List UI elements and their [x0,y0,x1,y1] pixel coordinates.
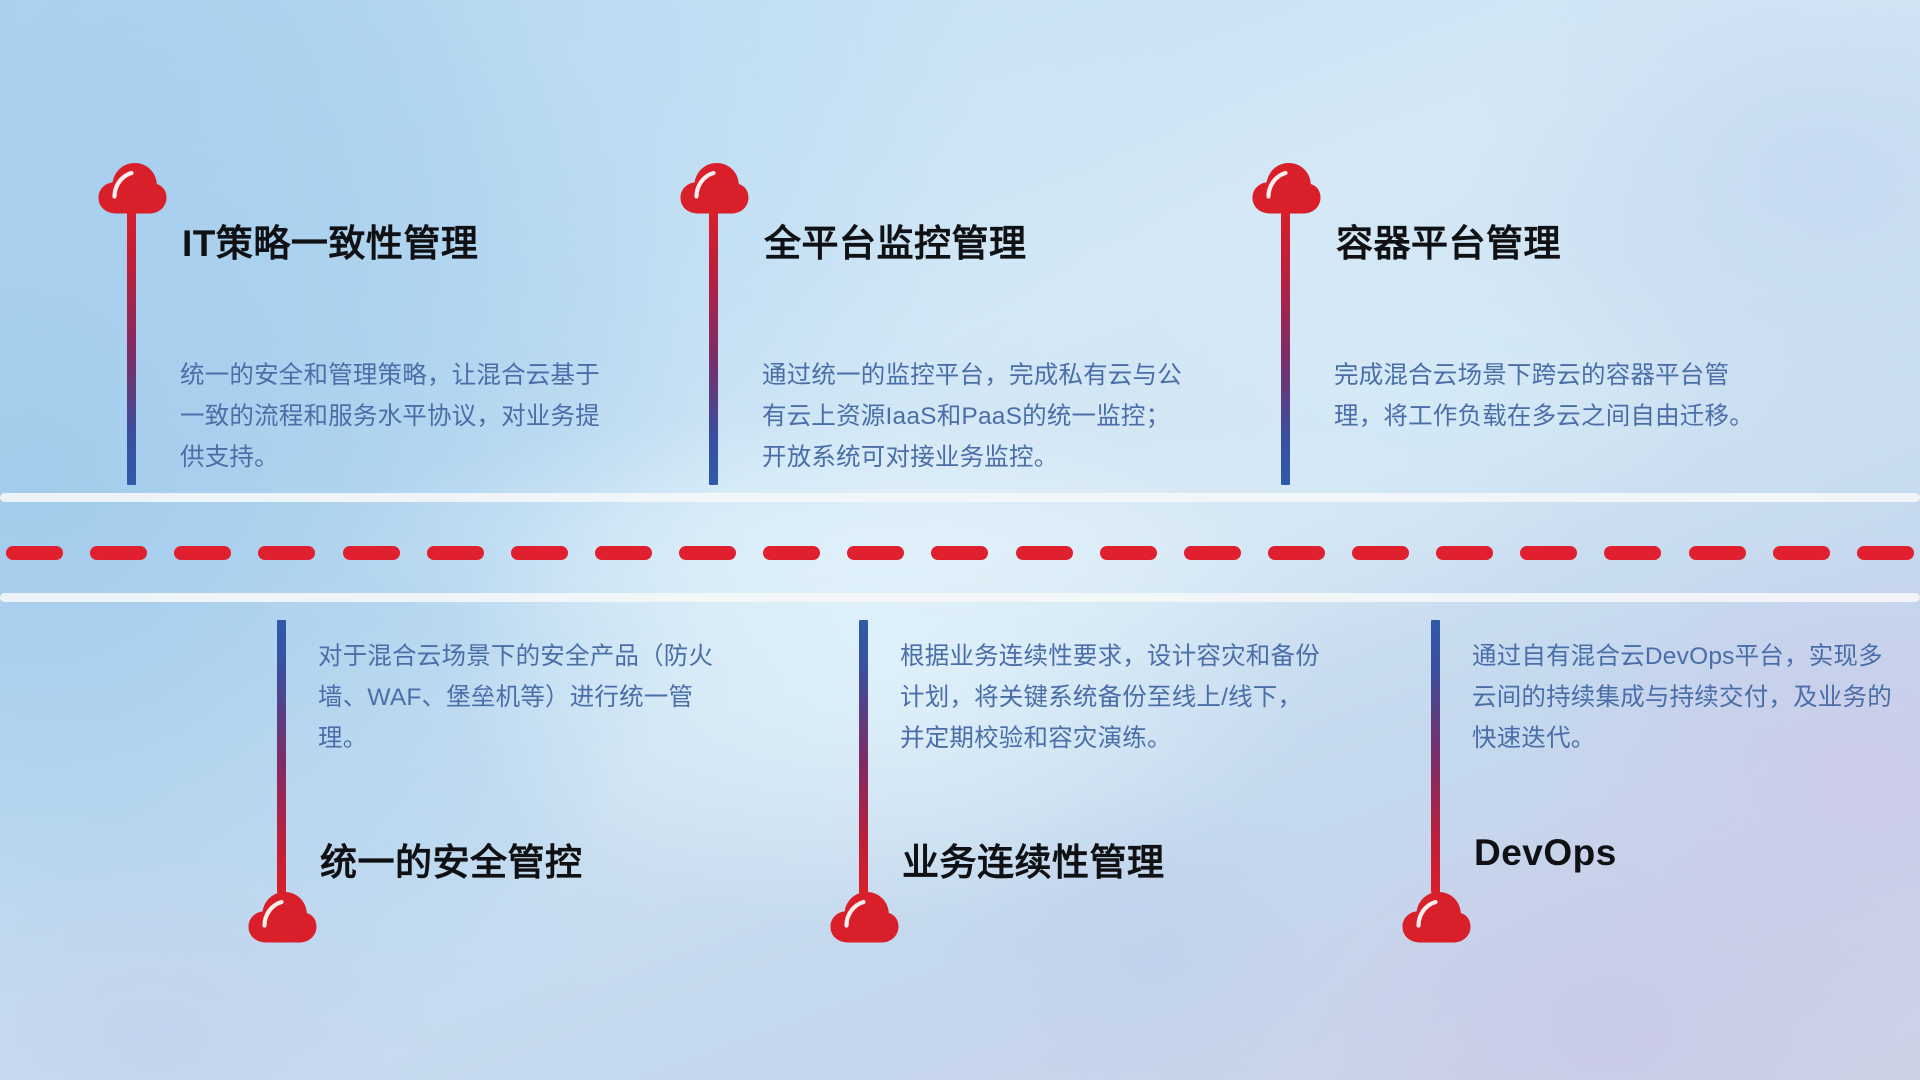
connector-stem [277,620,286,893]
pin-it-policy-consistency [96,160,174,216]
heading-container-platform: 容器平台管理 [1336,213,1561,267]
pin-full-platform-monitoring [678,160,756,216]
dash-segment [1604,546,1661,560]
dash-segment [258,546,315,560]
heading-it-policy-consistency: IT策略一致性管理 [182,213,478,267]
cloud-icon [96,160,168,216]
dash-segment [343,546,400,560]
dash-segment [6,546,63,560]
heading-devops: DevOps [1474,832,1617,874]
dash-segment [1436,546,1493,560]
dash-segment [1857,546,1914,560]
cloud-icon [246,889,318,945]
cloud-icon [678,160,750,216]
connector-stem [127,212,136,485]
dash-segment [679,546,736,560]
body-business-continuity: 根据业务连续性要求，设计容灾和备份计划，将关键系统备份至线上/线下，并定期校验和… [900,636,1320,759]
dash-segment [1100,546,1157,560]
heading-unified-security: 统一的安全管控 [320,832,583,886]
dash-segment [931,546,988,560]
dash-segment [1352,546,1409,560]
divider-bar-top [0,493,1920,502]
connector-stem [1281,212,1290,485]
dash-segment [763,546,820,560]
body-it-policy-consistency: 统一的安全和管理策略，让混合云基于一致的流程和服务水平协议，对业务提供支持。 [180,355,600,478]
heading-full-platform-monitoring: 全平台监控管理 [764,213,1027,267]
divider-bar-bottom [0,593,1920,602]
dash-segment [511,546,568,560]
body-full-platform-monitoring: 通过统一的监控平台，完成私有云与公有云上资源IaaS和PaaS的统一监控；开放系… [762,355,1182,478]
body-unified-security: 对于混合云场景下的安全产品（防火墙、WAF、堡垒机等）进行统一管理。 [318,636,738,759]
dash-segment [1268,546,1325,560]
body-devops: 通过自有混合云DevOps平台，实现多云间的持续集成与持续交付，及业务的快速迭代… [1472,636,1892,759]
dash-segment [847,546,904,560]
dash-segment [174,546,231,560]
dash-segment [427,546,484,560]
dash-segment [1773,546,1830,560]
dash-segment [1520,546,1577,560]
pin-container-platform [1250,160,1328,216]
dashed-road-line [0,545,1920,560]
connector-stem [1431,620,1440,893]
dash-segment [1689,546,1746,560]
dash-segment [90,546,147,560]
dash-segment [1184,546,1241,560]
connector-stem [709,212,718,485]
cloud-icon [828,889,900,945]
cloud-icon [1250,160,1322,216]
dash-segment [595,546,652,560]
cloud-icon [1400,889,1472,945]
body-container-platform: 完成混合云场景下跨云的容器平台管理，将工作负载在多云之间自由迁移。 [1334,355,1754,437]
heading-business-continuity: 业务连续性管理 [902,832,1165,886]
connector-stem [859,620,868,893]
infographic-canvas: IT策略一致性管理 统一的安全和管理策略，让混合云基于一致的流程和服务水平协议，… [0,0,1920,1080]
dash-segment [1016,546,1073,560]
